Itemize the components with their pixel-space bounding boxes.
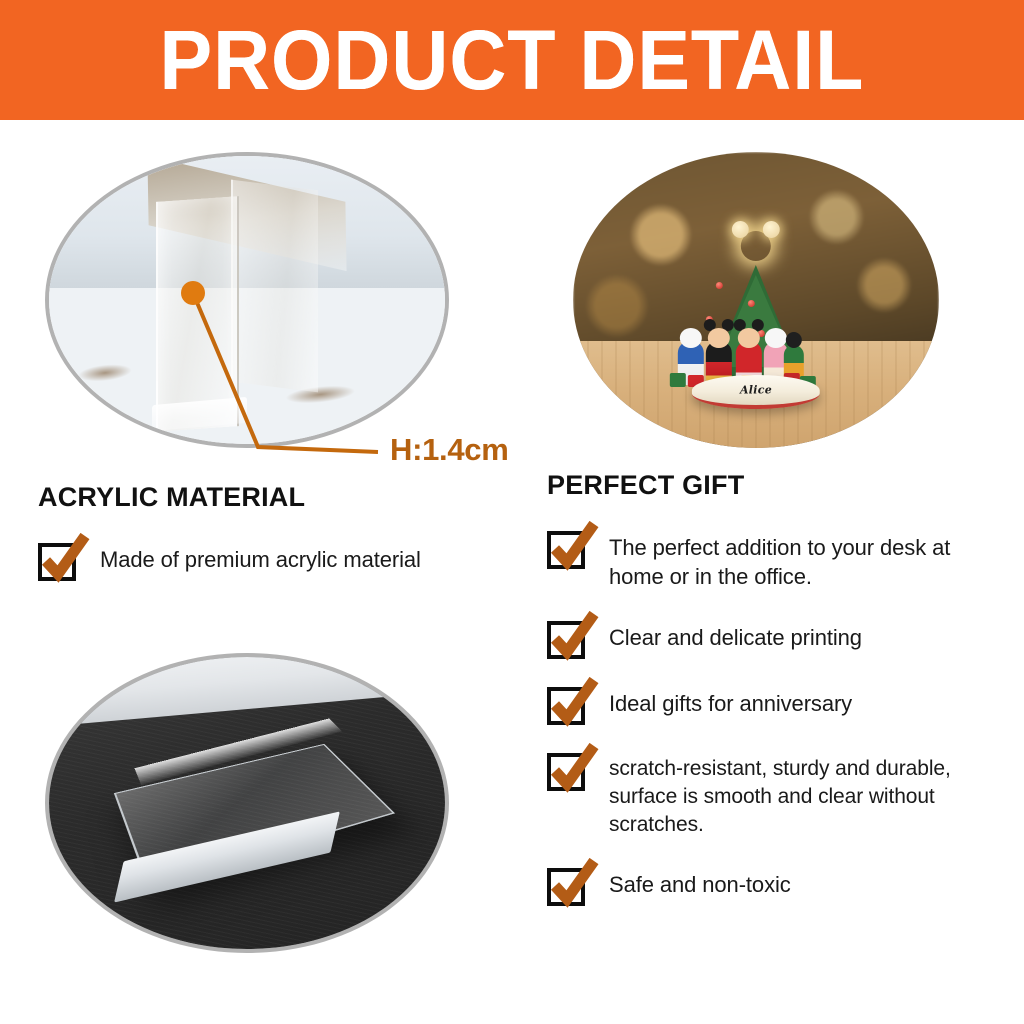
list-item-label: Safe and non-toxic <box>609 864 791 899</box>
acrylic-slab-back <box>231 179 318 391</box>
list-item-label: The perfect addition to your desk at hom… <box>609 527 1007 591</box>
figurine-scene: Alice <box>573 152 939 448</box>
list-item-label: Ideal gifts for anniversary <box>609 683 852 718</box>
checkmark-icon <box>547 617 587 657</box>
acrylic-slab-front <box>156 196 239 432</box>
list-item: scratch-resistant, sturdy and durable, s… <box>547 749 1007 838</box>
acrylic-edge-scene <box>49 156 445 444</box>
height-callout-label: H:1.4cm <box>390 432 509 468</box>
list-item: Safe and non-toxic <box>547 864 1007 904</box>
checkmark-icon <box>547 864 587 904</box>
section-title-acrylic-material: ACRYLIC MATERIAL <box>38 482 538 513</box>
list-item-label: Made of premium acrylic material <box>100 539 421 574</box>
checkmark-icon <box>547 683 587 723</box>
list-item: The perfect addition to your desk at hom… <box>547 527 1007 591</box>
list-item-label: scratch-resistant, sturdy and durable, s… <box>609 749 1007 838</box>
figurine-base: Alice <box>692 375 820 409</box>
list-item: Ideal gifts for anniversary <box>547 683 1007 723</box>
list-item: Clear and delicate printing <box>547 617 1007 657</box>
checkmark-icon <box>547 527 587 567</box>
ornament <box>716 282 723 289</box>
acrylic-block-photo <box>45 653 449 953</box>
section-title-perfect-gift: PERFECT GIFT <box>547 470 1007 501</box>
acrylic-material-section: ACRYLIC MATERIAL Made of premium acrylic… <box>38 482 538 579</box>
personalized-name: Alice <box>740 384 772 397</box>
mickey-crystal-topper-icon <box>741 231 771 261</box>
list-item: Made of premium acrylic material <box>38 539 538 579</box>
gift-box <box>670 373 686 387</box>
acrylic-edge-photo <box>45 152 449 448</box>
figurine: Alice <box>672 217 840 407</box>
page-title: PRODUCT DETAIL <box>160 18 865 102</box>
wood-knot <box>78 362 133 384</box>
checkmark-icon <box>547 749 587 789</box>
list-item-label: Clear and delicate printing <box>609 617 862 652</box>
perfect-gift-section: PERFECT GIFT The perfect addition to you… <box>547 470 1007 904</box>
acrylic-block-scene <box>49 657 445 949</box>
ornament <box>748 300 755 307</box>
product-detail-page: PRODUCT DETAIL <box>0 0 1024 1024</box>
checkmark-icon <box>38 539 78 579</box>
disney-christmas-tree-figurine-photo: Alice <box>573 152 939 448</box>
header-banner: PRODUCT DETAIL <box>0 0 1024 120</box>
